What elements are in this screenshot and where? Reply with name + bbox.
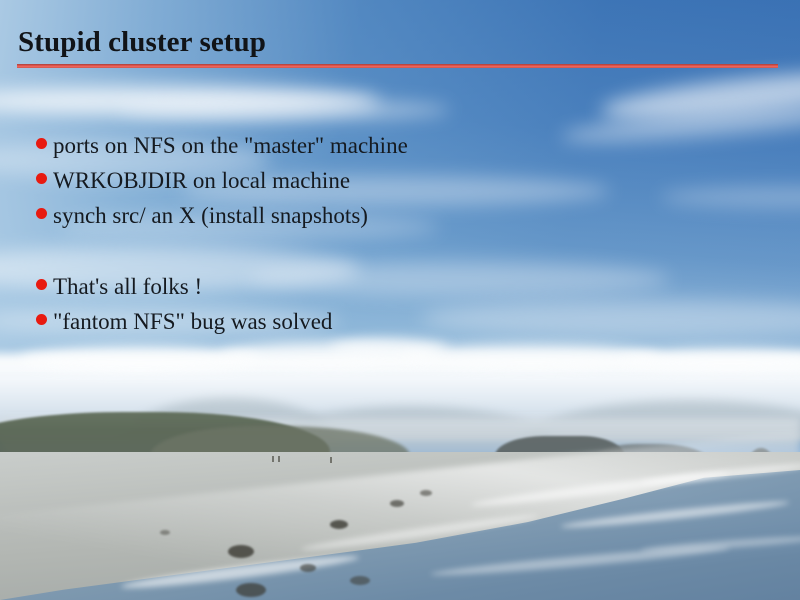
slide: Stupid cluster setup ports on NFS on the…	[0, 0, 800, 600]
wet-stone	[300, 564, 316, 572]
bullet-group-1: ports on NFS on the "master" machine WRK…	[36, 128, 776, 233]
distant-person	[278, 456, 280, 462]
cloud-bank-lump	[330, 338, 450, 358]
wet-stone	[420, 490, 432, 496]
list-item-label: "fantom NFS" bug was solved	[53, 304, 332, 339]
bullet-group-2: That's all folks ! "fantom NFS" bug was …	[36, 269, 776, 339]
list-item-label: ports on NFS on the "master" machine	[53, 128, 408, 163]
list-item-label: WRKOBJDIR on local machine	[53, 163, 350, 198]
list-item: That's all folks !	[36, 269, 776, 304]
list-item: ports on NFS on the "master" machine	[36, 128, 776, 163]
title-divider	[17, 64, 778, 68]
bullet-list: ports on NFS on the "master" machine WRK…	[36, 128, 776, 339]
bullet-dot-icon	[36, 208, 47, 219]
wet-stone	[160, 530, 170, 535]
bullet-dot-icon	[36, 138, 47, 149]
list-item: WRKOBJDIR on local machine	[36, 163, 776, 198]
wet-stone	[350, 576, 370, 585]
bullet-dot-icon	[36, 279, 47, 290]
list-item-label: synch src/ an X (install snapshots)	[53, 198, 368, 233]
bullet-dot-icon	[36, 173, 47, 184]
cloud-wisp	[120, 100, 450, 120]
bullet-group-spacer	[36, 233, 776, 269]
wet-stone	[228, 545, 254, 558]
bullet-dot-icon	[36, 314, 47, 325]
wet-stone	[390, 500, 404, 507]
wet-stone	[330, 520, 348, 529]
page-title: Stupid cluster setup	[18, 26, 266, 59]
distant-person	[330, 457, 332, 463]
list-item: "fantom NFS" bug was solved	[36, 304, 776, 339]
distant-person	[272, 456, 274, 462]
list-item: synch src/ an X (install snapshots)	[36, 198, 776, 233]
list-item-label: That's all folks !	[53, 269, 202, 304]
wet-stone	[236, 583, 266, 597]
